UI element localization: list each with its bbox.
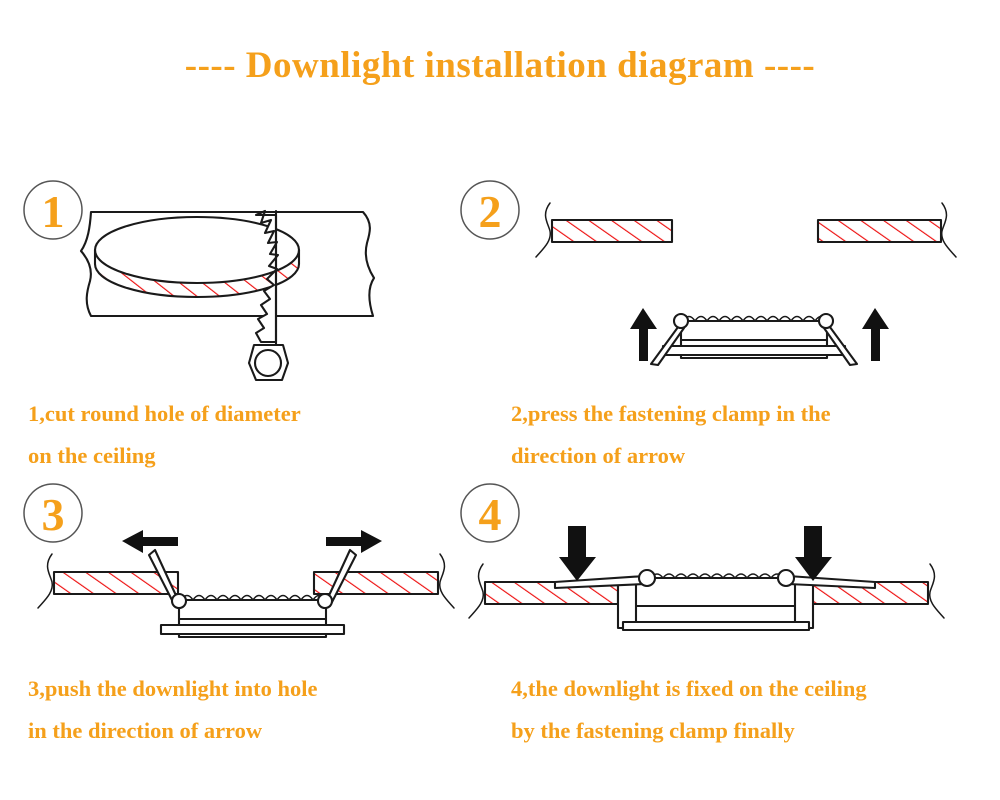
press-up-arrow-left xyxy=(630,308,657,361)
step-4-number: 4 xyxy=(479,489,502,540)
step-3-number-badge: 3 xyxy=(24,484,82,542)
ceiling-section-left xyxy=(536,203,672,257)
downlight-fixture xyxy=(651,314,857,365)
step-1-caption-line-2: on the ceiling xyxy=(28,435,301,477)
ceiling-section-right xyxy=(818,203,956,257)
step-4-caption: 4,the downlight is fixed on the ceiling … xyxy=(511,668,867,752)
fix-down-arrow-right xyxy=(795,526,832,581)
step-4-caption-line-2: by the fastening clamp finally xyxy=(511,710,867,752)
installation-diagram-page: ---- Downlight installation diagram ----… xyxy=(0,0,1000,800)
ceiling-section-left xyxy=(469,564,618,618)
step-4-number-badge: 4 xyxy=(461,484,519,542)
step-2-caption: 2,press the fastening clamp in the direc… xyxy=(511,393,831,477)
page-title: ---- Downlight installation diagram ---- xyxy=(0,44,1000,87)
press-up-arrow-right xyxy=(862,308,889,361)
push-arrow-right xyxy=(326,530,382,553)
fix-down-arrow-left xyxy=(559,526,596,581)
step-1-number: 1 xyxy=(42,186,65,237)
step-4-caption-line-1: 4,the downlight is fixed on the ceiling xyxy=(511,668,867,710)
push-arrow-left xyxy=(122,530,178,553)
step-2-caption-line-2: direction of arrow xyxy=(511,435,831,477)
downlight-fixture xyxy=(149,550,356,637)
step-2-number-badge: 2 xyxy=(461,181,519,239)
step-2-number: 2 xyxy=(479,186,502,237)
step-2-caption-line-1: 2,press the fastening clamp in the xyxy=(511,393,831,435)
step-3-number: 3 xyxy=(42,489,65,540)
step-1-number-badge: 1 xyxy=(24,181,82,239)
step-1-caption: 1,cut round hole of diameter on the ceil… xyxy=(28,393,301,477)
step-3-caption-line-2: in the direction of arrow xyxy=(28,710,317,752)
step-1-caption-line-1: 1,cut round hole of diameter xyxy=(28,393,301,435)
step-3-caption: 3,push the downlight into hole in the di… xyxy=(28,668,317,752)
step-3-caption-line-1: 3,push the downlight into hole xyxy=(28,668,317,710)
